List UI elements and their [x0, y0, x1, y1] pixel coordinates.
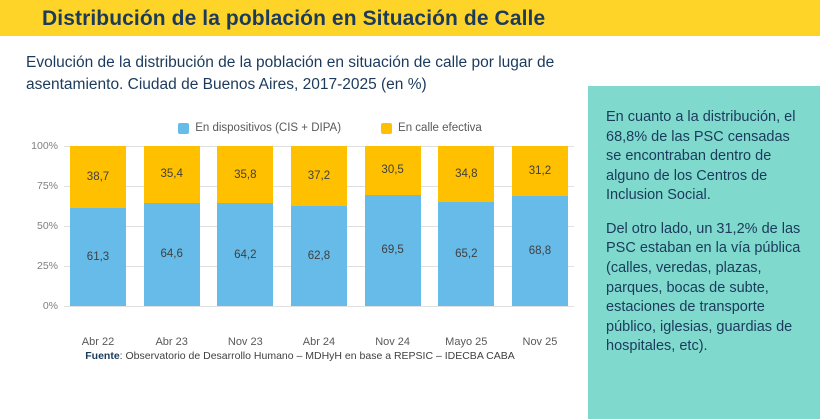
bar-column[interactable]: 35,4 64,6 [144, 146, 200, 306]
bar-value-label: 65,2 [455, 248, 477, 260]
y-tick: 100% [31, 140, 58, 152]
bar-segment-dispositivos[interactable]: 68,8 [512, 196, 568, 306]
legend-label-dispositivos: En dispositivos (CIS + DIPA) [195, 122, 341, 134]
bar-value-label: 64,6 [160, 248, 182, 260]
side-panel: En cuanto a la distribución, el 68,8% de… [588, 86, 820, 419]
chart-bars: 38,7 61,3 35,4 64,6 35,8 [64, 146, 574, 306]
chart-legend: En dispositivos (CIS + DIPA) En calle ef… [100, 118, 560, 138]
chart-gridlines: 38,7 61,3 35,4 64,6 35,8 [64, 146, 574, 306]
bar-value-label: 61,3 [87, 251, 109, 263]
page-title: Distribución de la población en Situació… [42, 7, 545, 31]
bar-value-label: 30,5 [381, 164, 403, 176]
y-axis: 100% 75% 50% 25% 0% [20, 146, 64, 306]
bar-value-label: 34,8 [455, 168, 477, 180]
bar-value-label: 64,2 [234, 249, 256, 261]
bar-value-label: 31,2 [529, 165, 551, 177]
bar-segment-dispositivos[interactable]: 62,8 [291, 206, 347, 306]
legend-swatch-dispositivos [178, 123, 189, 134]
side-panel-paragraph-2: Del otro lado, un 31,2% de las PSC estab… [606, 220, 806, 357]
bar-segment-calle-efectiva[interactable]: 37,2 [291, 146, 347, 206]
bar-column[interactable]: 38,7 61,3 [70, 146, 126, 306]
bar-value-label: 37,2 [308, 170, 330, 182]
bar-value-label: 62,8 [308, 250, 330, 262]
y-tick: 75% [37, 180, 58, 192]
bar-column[interactable]: 30,5 69,5 [365, 146, 421, 306]
bar-segment-calle-efectiva[interactable]: 35,4 [144, 146, 200, 203]
bar-value-label: 68,8 [529, 245, 551, 257]
bar-value-label: 38,7 [87, 171, 109, 183]
bar-value-label: 69,5 [381, 244, 403, 256]
chart-plot-area: 100% 75% 50% 25% 0% 38,7 61,3 [20, 146, 580, 306]
bar-column[interactable]: 35,8 64,2 [217, 146, 273, 306]
chart-container: En dispositivos (CIS + DIPA) En calle ef… [20, 118, 580, 368]
bar-segment-calle-efectiva[interactable]: 34,8 [438, 146, 494, 202]
y-tick: 50% [37, 220, 58, 232]
bar-column[interactable]: 37,2 62,8 [291, 146, 347, 306]
source-note: Fuente: Observatorio de Desarrollo Human… [20, 350, 580, 362]
legend-item-dispositivos[interactable]: En dispositivos (CIS + DIPA) [178, 122, 341, 134]
bar-segment-calle-efectiva[interactable]: 30,5 [365, 146, 421, 195]
bar-segment-dispositivos[interactable]: 64,2 [217, 203, 273, 306]
bar-column[interactable]: 34,8 65,2 [438, 146, 494, 306]
bar-value-label: 35,4 [160, 168, 182, 180]
side-panel-paragraph-1: En cuanto a la distribución, el 68,8% de… [606, 108, 806, 206]
legend-swatch-calle-efectiva [381, 123, 392, 134]
side-panel-text: En cuanto a la distribución, el 68,8% de… [606, 108, 806, 371]
bar-segment-dispositivos[interactable]: 61,3 [70, 208, 126, 306]
gridline [64, 306, 574, 307]
y-tick: 25% [37, 260, 58, 272]
legend-item-calle-efectiva[interactable]: En calle efectiva [381, 122, 482, 134]
legend-label-calle-efectiva: En calle efectiva [398, 122, 482, 134]
bar-segment-dispositivos[interactable]: 69,5 [365, 195, 421, 306]
bar-value-label: 35,8 [234, 169, 256, 181]
bar-segment-calle-efectiva[interactable]: 38,7 [70, 146, 126, 208]
bar-segment-calle-efectiva[interactable]: 35,8 [217, 146, 273, 203]
bar-segment-dispositivos[interactable]: 65,2 [438, 202, 494, 306]
bar-column[interactable]: 31,2 68,8 [512, 146, 568, 306]
bar-segment-dispositivos[interactable]: 64,6 [144, 203, 200, 306]
bar-segment-calle-efectiva[interactable]: 31,2 [512, 146, 568, 196]
title-bar: Distribución de la población en Situació… [0, 0, 820, 36]
y-tick: 0% [43, 300, 58, 312]
source-text: : Observatorio de Desarrollo Humano – MD… [120, 350, 515, 362]
chart-subtitle: Evolución de la distribución de la pobla… [26, 52, 606, 97]
source-label: Fuente [85, 350, 119, 362]
